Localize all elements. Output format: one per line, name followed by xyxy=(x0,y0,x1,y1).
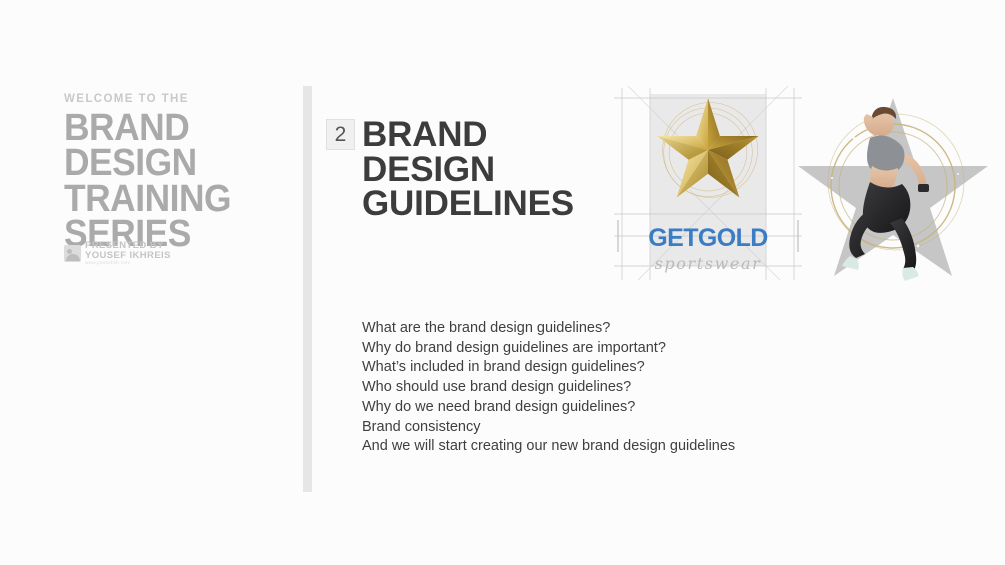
gold-star-icon xyxy=(654,96,762,204)
list-item: Who should use brand design guidelines? xyxy=(362,378,735,398)
page-title-line-3: GUIDELINES xyxy=(362,187,574,222)
headline-block: 2 BRAND DESIGN GUIDELINES xyxy=(326,118,574,222)
page-title-line-1: BRAND xyxy=(362,118,574,153)
agenda-list: What are the brand design guidelines? Wh… xyxy=(362,319,735,457)
presenter-avatar-icon xyxy=(64,245,81,262)
page-title-line-2: DESIGN xyxy=(362,153,574,188)
section-number-badge: 2 xyxy=(326,119,355,150)
presenter-line-2: YOUSEF IKHREIS xyxy=(85,251,171,261)
list-item: What’s included in brand design guidelin… xyxy=(362,358,735,378)
list-item: What are the brand design guidelines? xyxy=(362,319,735,339)
athlete-star-graphic xyxy=(798,78,988,283)
brand-wordmark: GETGOLD xyxy=(608,224,808,253)
series-title-line-2: DESIGN xyxy=(64,146,278,182)
list-item: Brand consistency xyxy=(362,418,735,438)
list-item: And we will start creating our new brand… xyxy=(362,437,735,457)
slide-canvas: WELCOME TO THE BRAND DESIGN TRAINING SER… xyxy=(0,0,1005,565)
series-title-line-3: TRAINING xyxy=(64,182,278,218)
welcome-label: WELCOME TO THE xyxy=(64,94,294,106)
presenter-website: www.yousefikh.com xyxy=(85,261,171,266)
series-title: BRAND DESIGN TRAINING SERIES xyxy=(64,111,278,253)
presenter-credit: PRESENTED BY YOUSEF IKHREIS www.yousefik… xyxy=(64,241,171,266)
list-item: Why do brand design guidelines are impor… xyxy=(362,339,735,359)
presenter-text: PRESENTED BY YOUSEF IKHREIS www.yousefik… xyxy=(85,241,171,266)
series-block: WELCOME TO THE BRAND DESIGN TRAINING SER… xyxy=(64,94,294,253)
logo-construction-panel: GETGOLD sportswear xyxy=(608,84,808,284)
list-item: Why do we need brand design guidelines? xyxy=(362,398,735,418)
vertical-divider xyxy=(303,86,312,492)
series-title-line-1: BRAND xyxy=(64,111,278,147)
page-title: BRAND DESIGN GUIDELINES xyxy=(362,118,574,222)
brand-tagline: sportswear xyxy=(608,254,808,273)
